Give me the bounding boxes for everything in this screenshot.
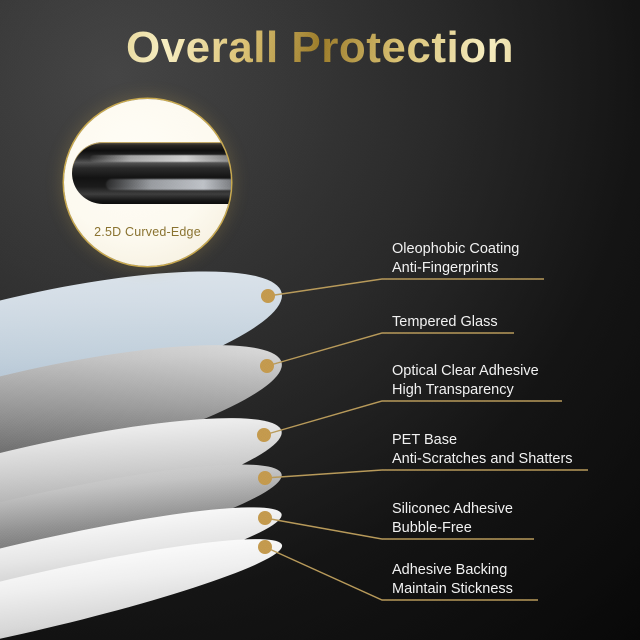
callout-line-2: Anti-Fingerprints <box>392 259 519 278</box>
callout-line-2: High Transparency <box>392 381 539 400</box>
callout-line-1: PET Base <box>392 431 573 450</box>
callout-optical-clear-adhesive: Optical Clear Adhesive High Transparency <box>392 362 539 400</box>
callout-line-1: Adhesive Backing <box>392 561 513 580</box>
inset-caption: 2.5D Curved-Edge <box>64 225 231 239</box>
curved-edge-inset: 2.5D Curved-Edge <box>64 99 231 266</box>
callout-line-2: Anti-Scratches and Shatters <box>392 450 573 469</box>
callout-adhesive-backing: Adhesive Backing Maintain Stickness <box>392 561 513 599</box>
glass-gold-highlight-icon <box>74 141 231 146</box>
callout-pet-base: PET Base Anti-Scratches and Shatters <box>392 431 573 469</box>
glass-reflection-icon <box>106 179 231 190</box>
product-infographic: Overall Protection 2.5D Curved-Edge <box>0 0 640 640</box>
callout-line-2: Bubble-Free <box>392 519 513 538</box>
callout-siliconec-adhesive: Siliconec Adhesive Bubble-Free <box>392 500 513 538</box>
curved-glass-edge-icon <box>72 142 231 204</box>
callout-line-1: Tempered Glass <box>392 313 498 332</box>
callout-oleophobic-coating: Oleophobic Coating Anti-Fingerprints <box>392 240 519 278</box>
layer-stack <box>0 0 640 640</box>
callout-line-1: Oleophobic Coating <box>392 240 519 259</box>
callout-line-1: Siliconec Adhesive <box>392 500 513 519</box>
callout-line-1: Optical Clear Adhesive <box>392 362 539 381</box>
page-title: Overall Protection <box>0 24 640 72</box>
callout-line-2: Maintain Stickness <box>392 580 513 599</box>
callout-tempered-glass: Tempered Glass <box>392 313 498 332</box>
glass-specular-highlight-icon <box>90 155 231 162</box>
